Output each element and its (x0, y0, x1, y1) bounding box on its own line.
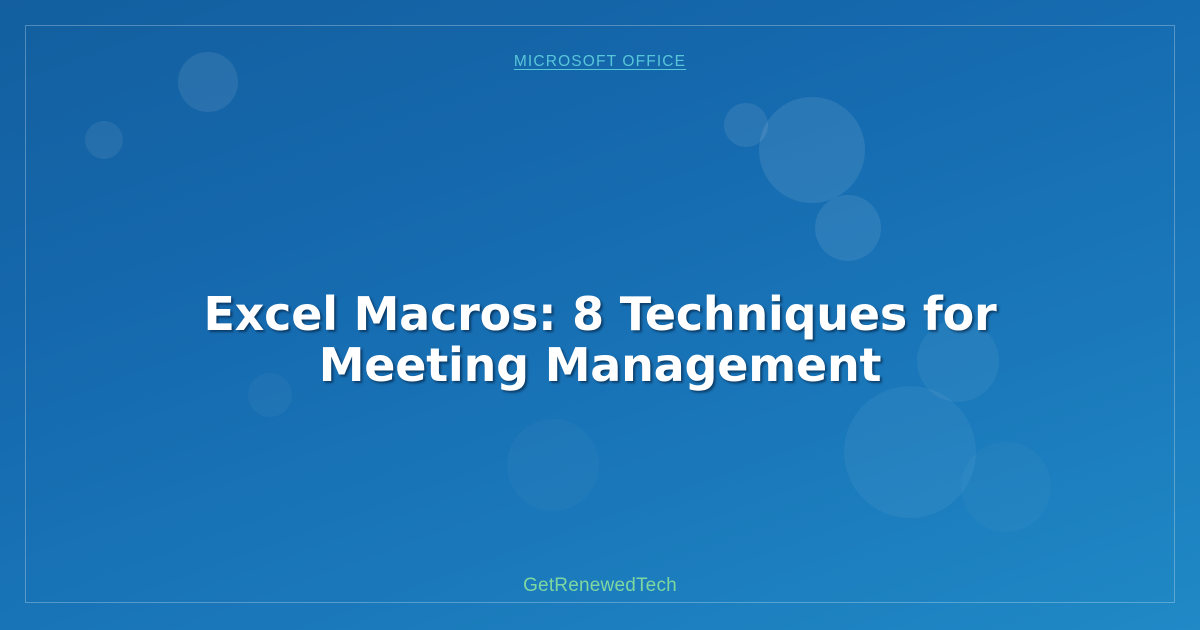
site-brand-label[interactable]: GetRenewedTech (0, 575, 1200, 597)
social-share-banner: MICROSOFT OFFICE Excel Macros: 8 Techniq… (0, 0, 1200, 630)
title-container: Excel Macros: 8 Techniques for Meeting M… (0, 258, 1200, 422)
category-label[interactable]: MICROSOFT OFFICE (514, 53, 686, 71)
page-title: Excel Macros: 8 Techniques for Meeting M… (150, 289, 1050, 391)
banner-content: MICROSOFT OFFICE Excel Macros: 8 Techniq… (0, 0, 1200, 630)
